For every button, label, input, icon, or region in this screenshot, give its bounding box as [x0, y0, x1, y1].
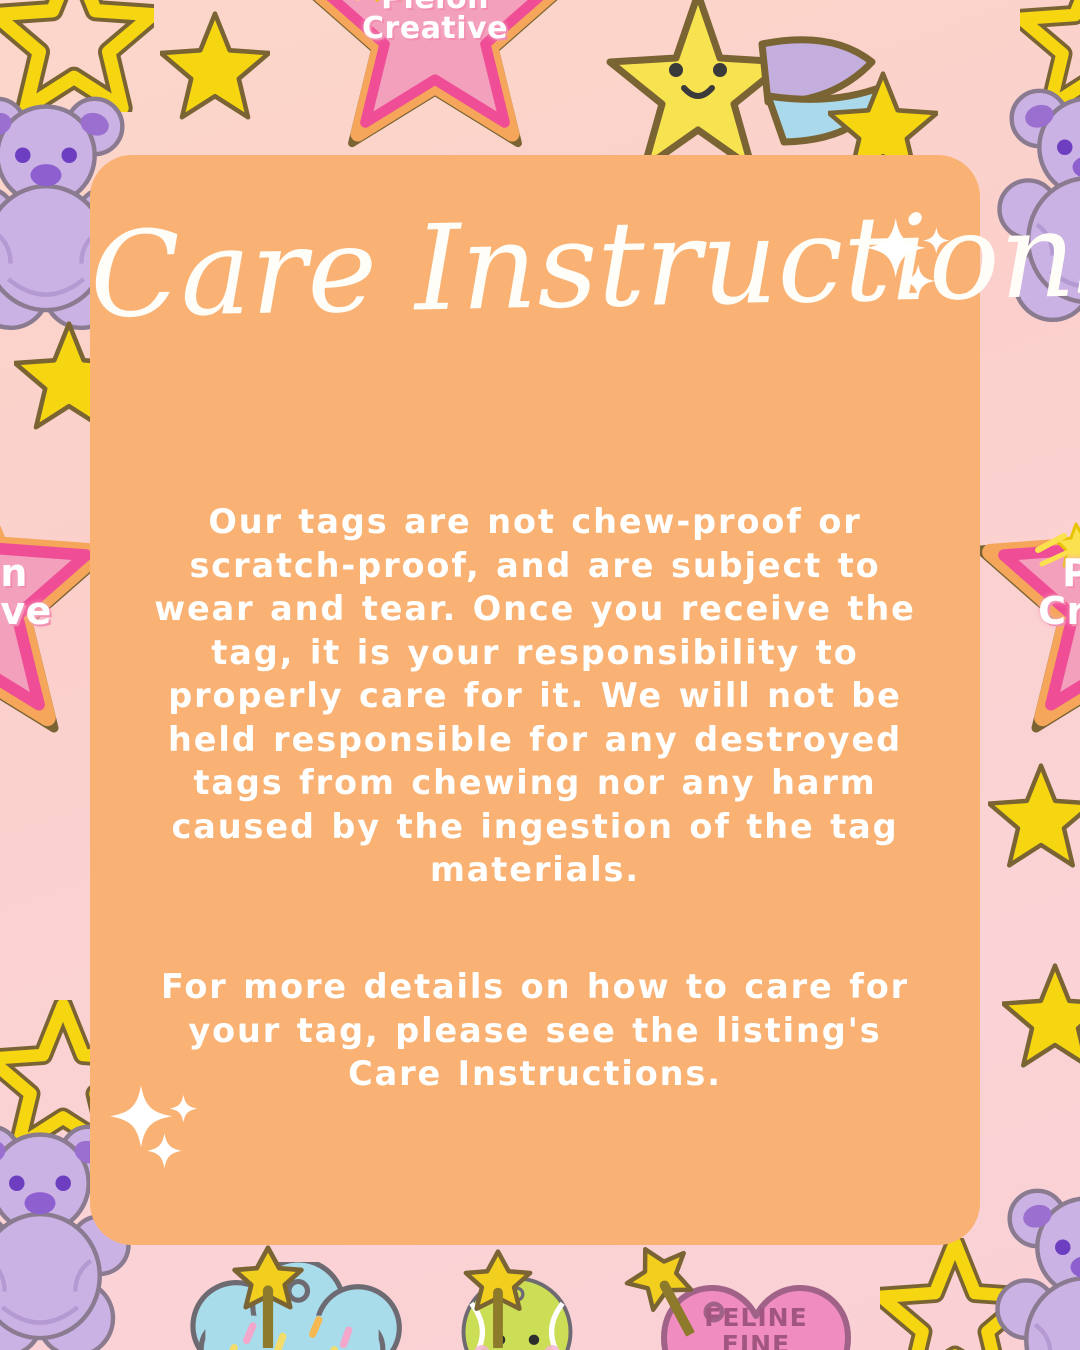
star-icon — [988, 762, 1080, 868]
star-icon — [160, 10, 270, 120]
badge-text-line2: Creative — [300, 14, 570, 45]
badge-text-line2: Creative — [980, 592, 1080, 631]
star-badge-creative-top: Pleion Creative — [300, 0, 570, 152]
gummy-bear-tag-bottom-right — [988, 1172, 1080, 1350]
care-paragraph-2: For more details on how to care for your… — [142, 965, 928, 1096]
clasp-icon — [220, 1244, 316, 1350]
star-badge-right: Pleion Creative — [980, 432, 1080, 738]
care-paragraph-1: Our tags are not chew-proof or scratch-p… — [142, 500, 928, 892]
star-icon — [1002, 962, 1080, 1068]
badge-text-line1: Pleion — [980, 554, 1080, 593]
sparkles-icon — [110, 1075, 206, 1187]
clasp-icon — [452, 1248, 544, 1350]
sparkles-icon — [866, 207, 958, 317]
page-title: Care Instructions — [89, 198, 981, 335]
care-instructions-card: Care Instructions Our tags are not chew-… — [90, 155, 980, 1245]
